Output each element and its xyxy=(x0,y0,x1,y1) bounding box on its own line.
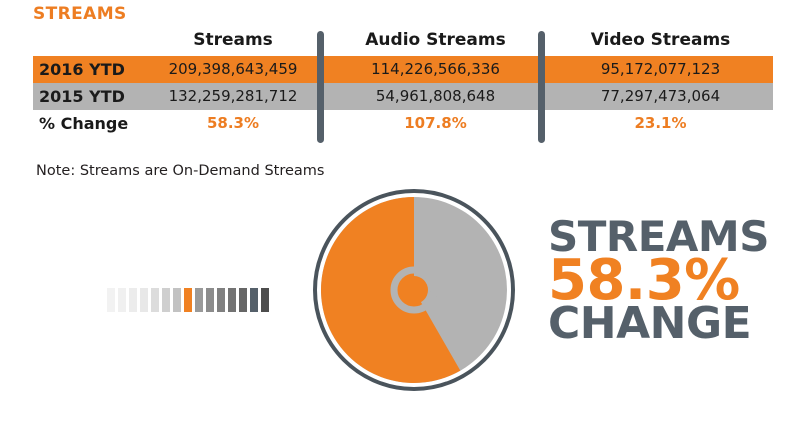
strip-bar xyxy=(118,288,126,312)
cell-2015-audio-streams: 54,961,808,648 xyxy=(328,83,543,110)
column-header-streams: Streams xyxy=(143,30,323,50)
pie-chart-svg xyxy=(311,186,517,394)
note-text: Note: Streams are On-Demand Streams xyxy=(36,163,324,179)
column-separator-2 xyxy=(538,31,545,143)
strip-bar xyxy=(173,288,181,312)
strip-bar xyxy=(250,288,258,312)
pie-chart xyxy=(311,186,517,394)
strip-bar xyxy=(162,288,170,312)
callout-line-change: CHANGE xyxy=(548,304,778,344)
table-row: % Change 58.3% 107.8% 23.1% xyxy=(33,110,773,137)
page-title: STREAMS xyxy=(33,4,127,24)
callout-block: STREAMS 58.3% CHANGE xyxy=(548,218,778,345)
gradient-bar-strip xyxy=(107,288,269,312)
strip-bar-highlight xyxy=(184,288,192,312)
strip-bar xyxy=(217,288,225,312)
strip-bar xyxy=(129,288,137,312)
strip-bar xyxy=(206,288,214,312)
strip-bar xyxy=(228,288,236,312)
pie-hub-center xyxy=(400,276,428,304)
strip-bar xyxy=(151,288,159,312)
cell-2015-video-streams: 77,297,473,064 xyxy=(548,83,773,110)
cell-pct-video-streams: 23.1% xyxy=(548,110,773,137)
row-label-pct-change: % Change xyxy=(39,110,143,137)
strip-bar xyxy=(239,288,247,312)
table-row: 2015 YTD 132,259,281,712 54,961,808,648 … xyxy=(33,83,773,110)
cell-2016-video-streams: 95,172,077,123 xyxy=(548,56,773,83)
strip-bar xyxy=(261,288,269,312)
cell-pct-audio-streams: 107.8% xyxy=(328,110,543,137)
table-header-row: Streams Audio Streams Video Streams xyxy=(33,28,773,56)
cell-2016-audio-streams: 114,226,566,336 xyxy=(328,56,543,83)
column-separator-1 xyxy=(317,31,324,143)
cell-pct-streams: 58.3% xyxy=(143,110,323,137)
cell-2015-streams: 132,259,281,712 xyxy=(143,83,323,110)
cell-2016-streams: 209,398,643,459 xyxy=(143,56,323,83)
column-header-audio-streams: Audio Streams xyxy=(328,30,543,50)
row-label-2016: 2016 YTD xyxy=(39,56,143,83)
strip-bar xyxy=(195,288,203,312)
table-row: 2016 YTD 209,398,643,459 114,226,566,336… xyxy=(33,56,773,83)
stats-table: Streams Audio Streams Video Streams 2016… xyxy=(33,28,773,143)
strip-bar xyxy=(107,288,115,312)
row-label-2015: 2015 YTD xyxy=(39,83,143,110)
strip-bar xyxy=(140,288,148,312)
column-header-video-streams: Video Streams xyxy=(548,30,773,50)
